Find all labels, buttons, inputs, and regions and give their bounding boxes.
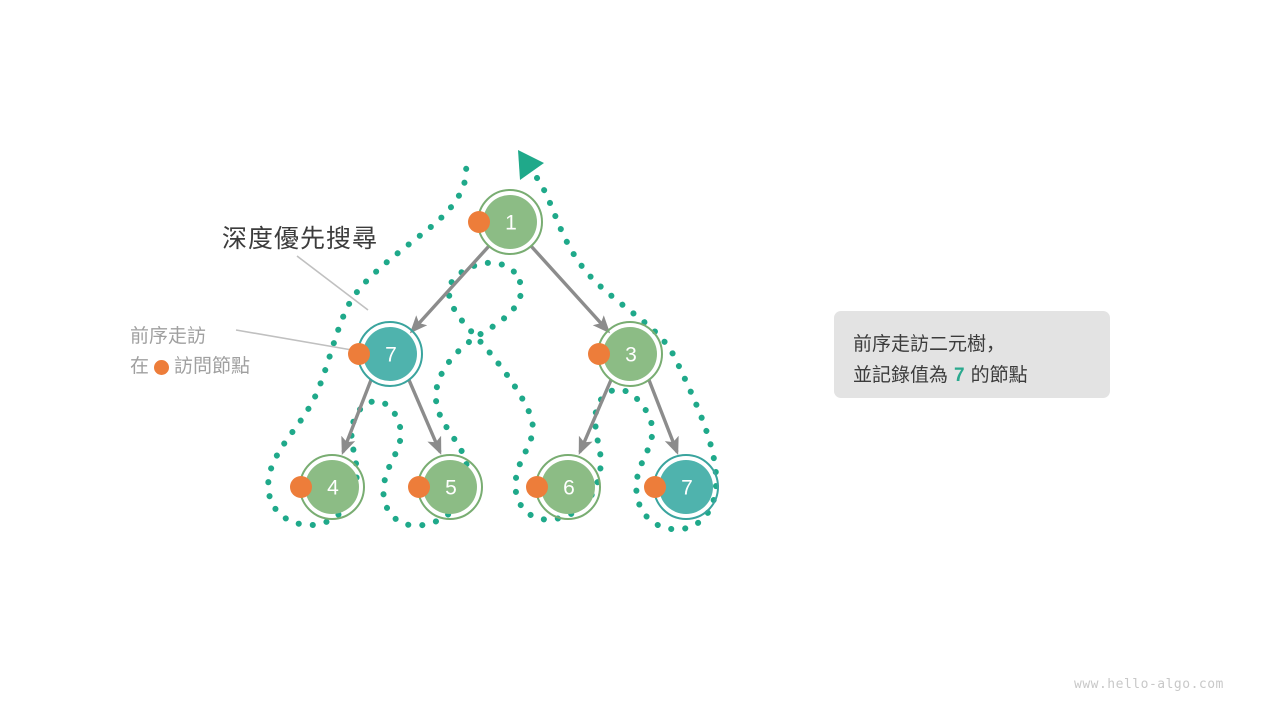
diagram-title: 深度優先搜尋	[222, 219, 378, 255]
leader-line-title	[297, 256, 368, 310]
tree-node-3[interactable]: 3	[588, 322, 662, 386]
edge-3-7b	[649, 380, 677, 452]
legend-prefix: 在	[130, 352, 149, 382]
traversal-legend: 前序走訪 在 訪問節點	[130, 322, 250, 382]
tree-node-1[interactable]: 1	[468, 190, 542, 254]
node-1-visit-dot	[468, 211, 490, 233]
node-3-visit-dot	[588, 343, 610, 365]
dfs-path-arrowhead	[518, 150, 544, 180]
legend-suffix: 訪問節點	[174, 352, 250, 382]
info-box-line-1: 前序走訪二元樹，	[853, 329, 1110, 360]
node-4-label: 4	[327, 477, 339, 500]
tree-node-4[interactable]: 4	[290, 455, 364, 519]
legend-line-1: 前序走訪	[130, 322, 250, 352]
tree-node-6[interactable]: 6	[526, 455, 600, 519]
node-3-label: 3	[625, 344, 637, 367]
node-7-left-label: 7	[385, 344, 397, 367]
edge-7-4	[343, 380, 371, 452]
tree-node-7-right[interactable]: 7	[644, 455, 718, 519]
node-6-visit-dot	[526, 476, 548, 498]
info-box: 前序走訪二元樹， 並記錄值為7的節點	[834, 311, 1110, 398]
info-box-suffix: 的節點	[971, 365, 1028, 386]
orange-dot-icon	[154, 360, 169, 375]
info-box-line-2: 並記錄值為7的節點	[853, 360, 1110, 391]
node-7-right-visit-dot	[644, 476, 666, 498]
site-watermark: www.hello-algo.com	[1074, 677, 1224, 692]
edge-7-5	[409, 380, 440, 452]
legend-line-2: 在 訪問節點	[130, 352, 250, 382]
tree-node-7-left[interactable]: 7	[348, 322, 422, 386]
tree-node-5[interactable]: 5	[408, 455, 482, 519]
node-7-left-visit-dot	[348, 343, 370, 365]
node-5-label: 5	[445, 477, 457, 500]
info-box-accent-value: 7	[948, 365, 971, 386]
info-box-prefix: 並記錄值為	[853, 365, 948, 386]
node-7-right-label: 7	[681, 477, 693, 500]
node-5-visit-dot	[408, 476, 430, 498]
node-4-visit-dot	[290, 476, 312, 498]
node-6-label: 6	[563, 477, 575, 500]
edge-1-3	[531, 246, 608, 331]
diagram-canvas: 1 7 3 4 5	[0, 0, 1280, 720]
edge-1-7	[412, 246, 489, 331]
node-1-label: 1	[505, 212, 517, 235]
